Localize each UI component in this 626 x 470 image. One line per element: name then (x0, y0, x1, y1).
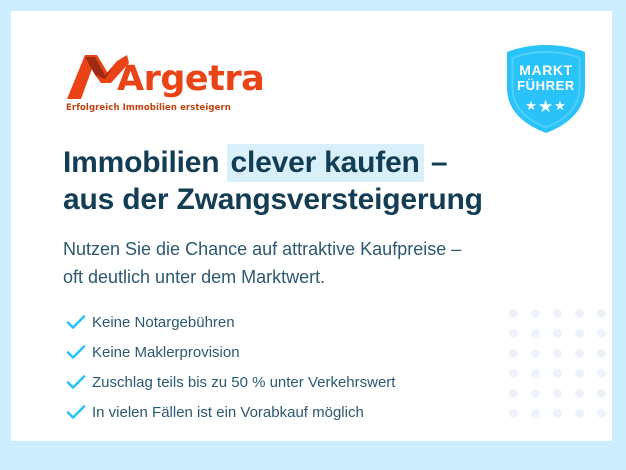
dot (553, 409, 562, 418)
dot (509, 329, 518, 338)
list-item-label: In vielen Fällen ist ein Vorabkauf mögli… (92, 404, 364, 421)
benefit-list: Keine Notargebühren Keine Maklerprovisio… (66, 307, 496, 427)
logo-tagline: Erfolgreich Immobilien ersteigern (66, 103, 231, 113)
dot (597, 369, 606, 378)
dot-pattern-decoration (509, 309, 612, 441)
list-item: Keine Maklerprovision (66, 337, 496, 367)
dot (531, 349, 540, 358)
dot (553, 309, 562, 318)
dot (531, 389, 540, 398)
headline-line-1: Immobilien clever kaufen – (63, 144, 533, 181)
headline-line-1-after: – (423, 146, 448, 179)
logo-row: Argetra (65, 51, 295, 103)
dot (553, 369, 562, 378)
headline-line-1-before: Immobilien (63, 146, 228, 179)
banner-card: Argetra Erfolgreich Immobilien ersteiger… (11, 11, 612, 441)
logo-wordmark: Argetra (117, 59, 264, 99)
dot (509, 369, 518, 378)
list-item: In vielen Fällen ist ein Vorabkauf mögli… (66, 397, 496, 427)
shield-icon (501, 43, 591, 135)
dot (531, 309, 540, 318)
list-item-label: Keine Notargebühren (92, 314, 235, 331)
dot (597, 409, 606, 418)
market-leader-badge: MARKT FÜHRER ★★★ (501, 43, 591, 135)
subheadline-line-2: oft deutlich unter dem Marktwert. (63, 263, 543, 291)
dot (597, 389, 606, 398)
subheadline: Nutzen Sie die Chance auf attraktive Kau… (63, 235, 543, 291)
dot (575, 409, 584, 418)
check-icon (66, 344, 92, 360)
subheadline-line-1: Nutzen Sie die Chance auf attraktive Kau… (63, 235, 543, 263)
dot (531, 409, 540, 418)
check-icon (66, 374, 92, 390)
dot (575, 329, 584, 338)
dot (575, 389, 584, 398)
brand-logo[interactable]: Argetra Erfolgreich Immobilien ersteiger… (65, 51, 295, 121)
advertisement-banner: Argetra Erfolgreich Immobilien ersteiger… (0, 0, 626, 470)
dot (531, 369, 540, 378)
check-icon (66, 404, 92, 420)
list-item-label: Zuschlag teils bis zu 50 % unter Verkehr… (92, 374, 395, 391)
list-item: Zuschlag teils bis zu 50 % unter Verkehr… (66, 367, 496, 397)
dot (509, 409, 518, 418)
list-item: Keine Notargebühren (66, 307, 496, 337)
headline-line-2: aus der Zwangsversteigerung (63, 181, 533, 218)
dot (597, 309, 606, 318)
dot (553, 389, 562, 398)
check-icon (66, 314, 92, 330)
dot (553, 329, 562, 338)
dot (509, 389, 518, 398)
dot (509, 309, 518, 318)
dot (575, 369, 584, 378)
dot (575, 349, 584, 358)
headline-highlight: clever kaufen (227, 144, 424, 182)
dot (597, 349, 606, 358)
dot (597, 329, 606, 338)
dot (509, 349, 518, 358)
headline: Immobilien clever kaufen – aus der Zwang… (63, 144, 533, 218)
dot (531, 329, 540, 338)
dot (575, 309, 584, 318)
dot (553, 349, 562, 358)
list-item-label: Keine Maklerprovision (92, 344, 240, 361)
